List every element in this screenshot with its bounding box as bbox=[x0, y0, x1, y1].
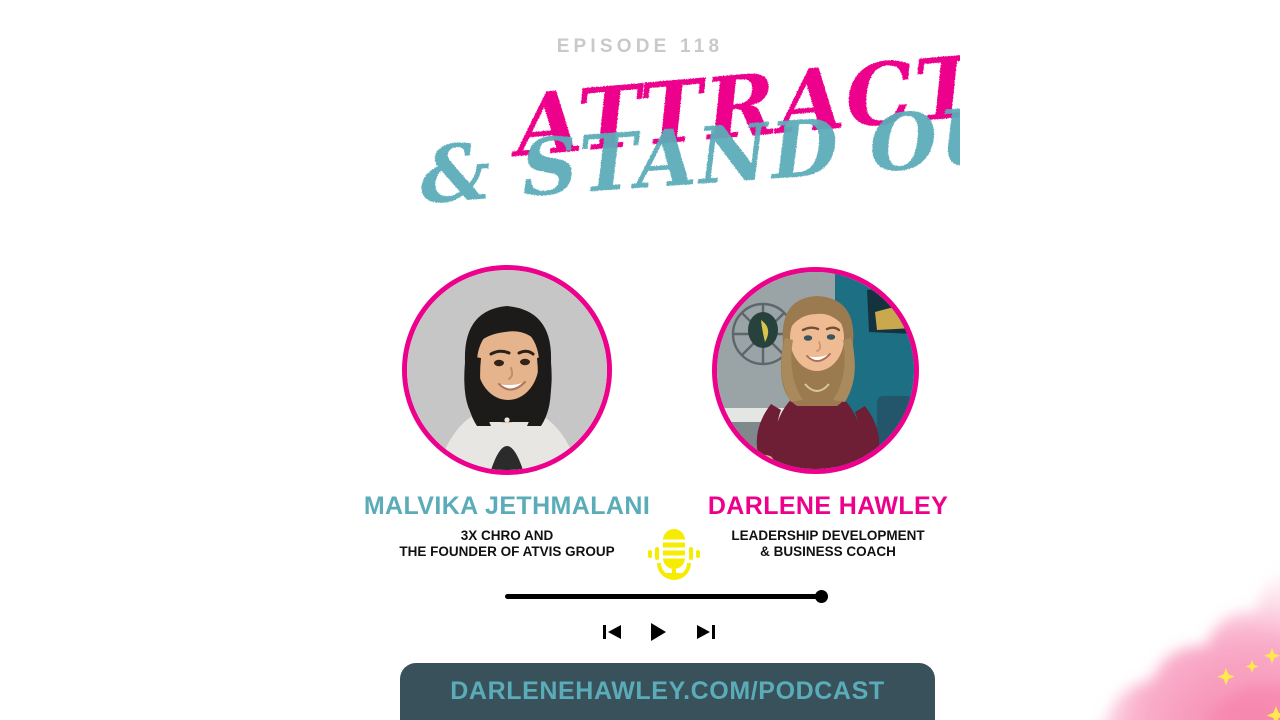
progress-knob[interactable] bbox=[815, 590, 828, 603]
guest-photo-left bbox=[402, 265, 612, 475]
podcast-episode-graphic: EPISODE 118 ATTRACT & STAND OUT bbox=[0, 0, 1280, 720]
sparkle-group bbox=[1191, 648, 1280, 720]
microphone-icon bbox=[639, 527, 709, 589]
guest-name-right: DARLENE HAWLEY bbox=[700, 492, 956, 521]
transport-controls bbox=[590, 620, 740, 644]
guest-role-right: LEADERSHIP DEVELOPMENT & BUSINESS COACH bbox=[700, 528, 956, 559]
guest-name-left: MALVIKA JETHMALANI bbox=[357, 492, 657, 521]
progress-track[interactable] bbox=[505, 594, 823, 599]
podcast-url-text: DARLENEHAWLEY.COM/PODCAST bbox=[450, 677, 884, 705]
play-button[interactable] bbox=[645, 620, 671, 644]
title-artwork: ATTRACT & STAND OUT bbox=[400, 48, 960, 218]
guest-role-left: 3X CHRO AND THE FOUNDER OF ATVIS GROUP bbox=[357, 528, 657, 559]
watercolor-corner-decoration bbox=[1020, 520, 1280, 720]
previous-track-button[interactable] bbox=[599, 620, 625, 644]
next-track-button[interactable] bbox=[693, 620, 719, 644]
guest-photo-right bbox=[712, 267, 919, 474]
podcast-url-bar[interactable]: DARLENEHAWLEY.COM/PODCAST bbox=[400, 663, 935, 720]
